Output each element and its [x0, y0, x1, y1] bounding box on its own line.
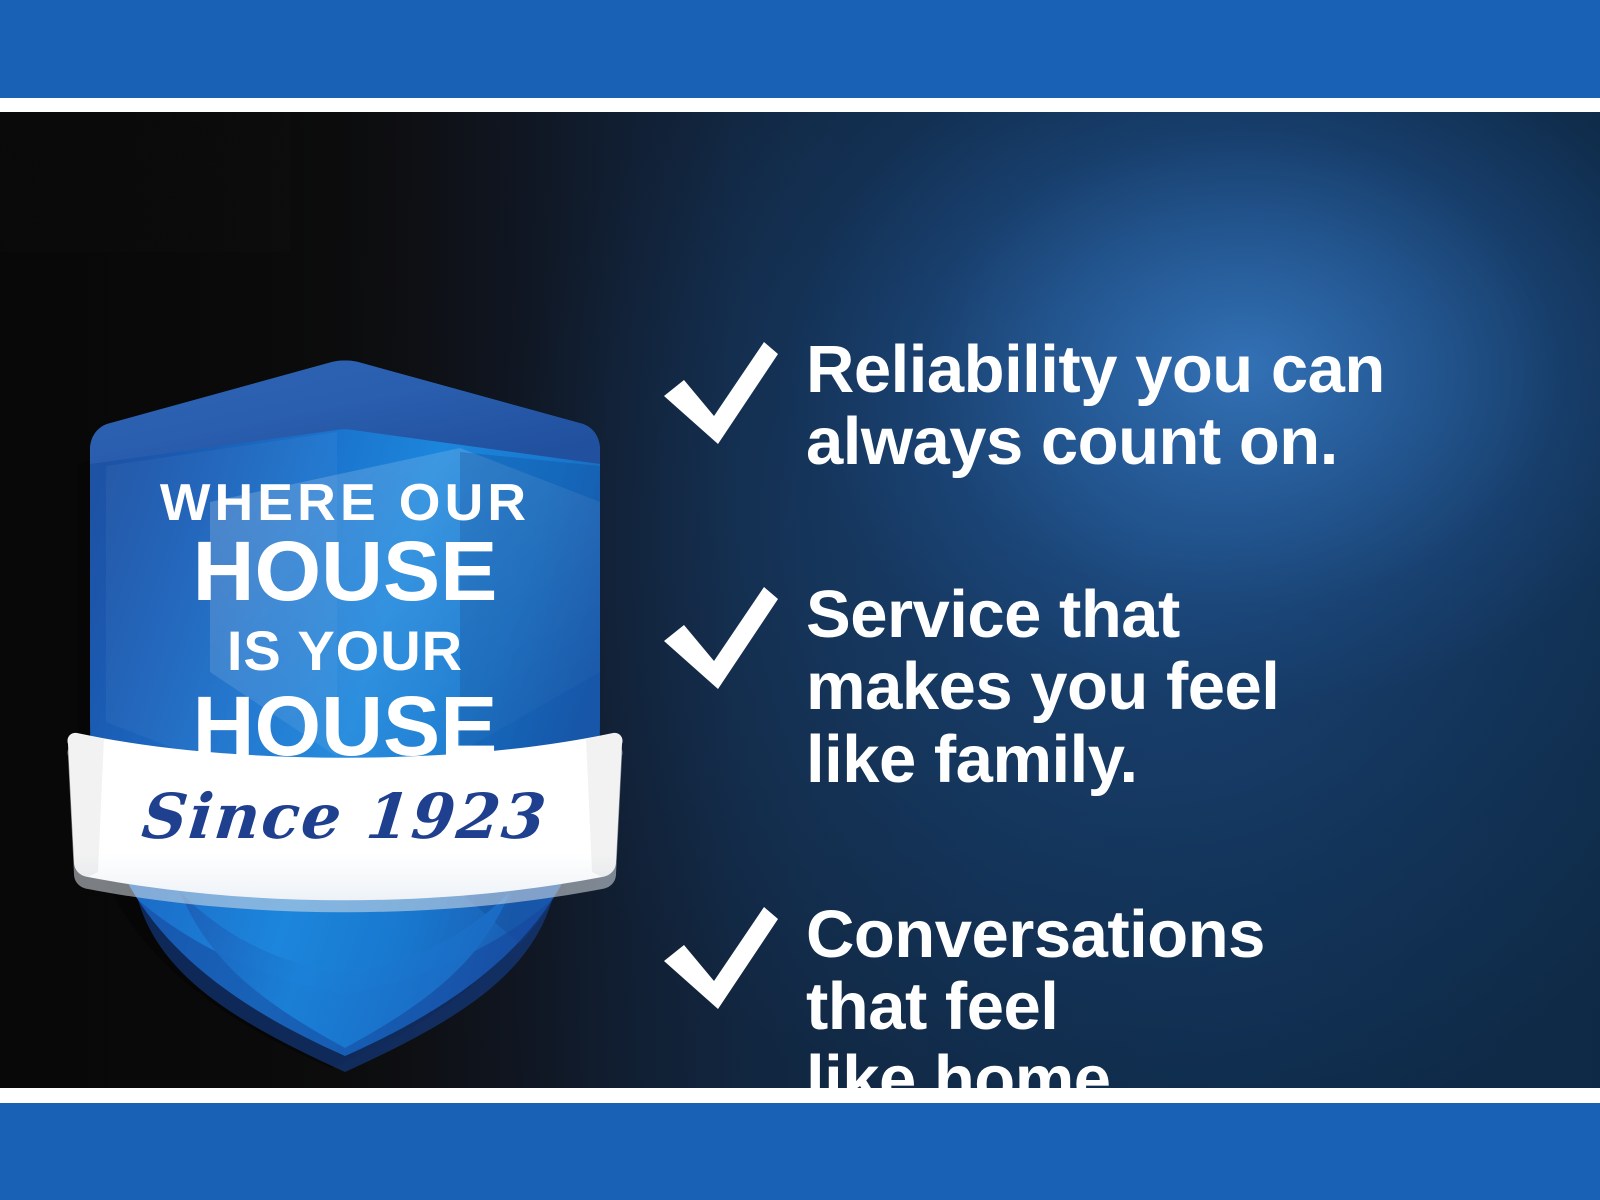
benefit-item: Conversations that feel like home.: [660, 899, 1540, 1088]
benefit-item: Service that makes you feel like family.: [660, 579, 1540, 796]
banner-ribbon: [67, 733, 622, 900]
checkmark-icon: [660, 903, 778, 1013]
shield-emblem: WHERE OUR HOUSE IS YOUR HOUSE Since 1923: [60, 252, 630, 1072]
top-brand-bar: [0, 0, 1600, 98]
banner-fold-right: [586, 733, 623, 877]
checkmark-icon: [660, 338, 778, 448]
promo-graphic: WHERE OUR HOUSE IS YOUR HOUSE Since 1923…: [0, 0, 1600, 1200]
bottom-brand-bar: [0, 1103, 1600, 1200]
main-stage: WHERE OUR HOUSE IS YOUR HOUSE Since 1923…: [0, 112, 1600, 1088]
benefit-text: Service that makes you feel like family.: [806, 579, 1540, 796]
benefit-item: Reliability you can always count on.: [660, 334, 1540, 479]
banner-fold-left: [67, 733, 104, 877]
background-noise-texture: [0, 112, 290, 252]
benefit-text: Reliability you can always count on.: [806, 334, 1540, 479]
benefits-list: Reliability you can always count on. Ser…: [660, 224, 1540, 1088]
benefit-text: Conversations that feel like home.: [806, 899, 1540, 1088]
checkmark-icon: [660, 583, 778, 693]
